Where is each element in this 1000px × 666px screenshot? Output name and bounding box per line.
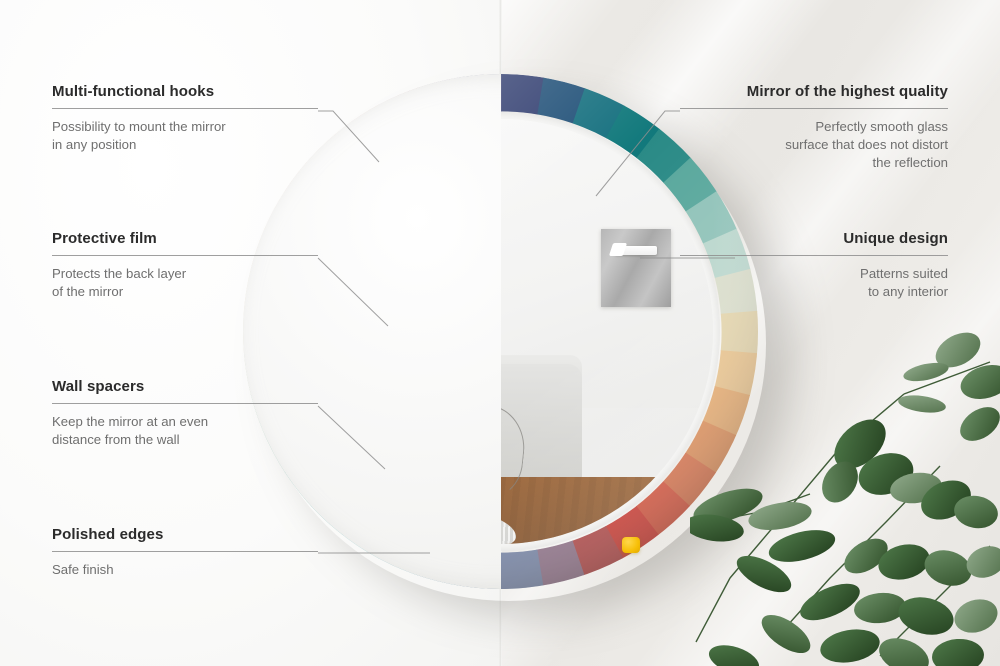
callout-rule [52, 403, 318, 404]
callout-wall-spacers[interactable]: Wall spacers Keep the mirror at an even … [52, 378, 318, 449]
callout-title: Protective film [52, 230, 318, 247]
foliage-decoration [690, 316, 1000, 666]
callout-title: Unique design [680, 230, 948, 247]
callout-title: Polished edges [52, 526, 318, 543]
callout-unique-design[interactable]: Unique design Patterns suited to any int… [680, 230, 948, 301]
callout-desc: Keep the mirror at an even distance from… [52, 413, 318, 449]
hook-slot-icon [615, 246, 657, 255]
callout-desc: Possibility to mount the mirror in any p… [52, 118, 318, 154]
callout-rule [52, 551, 318, 552]
callout-multi-functional-hooks[interactable]: Multi-functional hooks Possibility to mo… [52, 83, 318, 154]
callout-mirror-of-the-highest-quality[interactable]: Mirror of the highest quality Perfectly … [680, 83, 948, 172]
callout-desc: Protects the back layer of the mirror [52, 265, 318, 301]
callout-desc: Safe finish [52, 561, 318, 579]
callout-polished-edges[interactable]: Polished edges Safe finish [52, 526, 318, 579]
callout-title: Mirror of the highest quality [680, 83, 948, 100]
wall-spacer-pad[interactable] [622, 537, 640, 553]
callout-rule [52, 255, 318, 256]
callout-desc: Perfectly smooth glass surface that does… [680, 118, 948, 172]
callout-desc: Patterns suited to any interior [680, 265, 948, 301]
callout-protective-film[interactable]: Protective film Protects the back layer … [52, 230, 318, 301]
callout-title: Wall spacers [52, 378, 318, 395]
callout-title: Multi-functional hooks [52, 83, 318, 100]
callout-rule [680, 255, 948, 256]
callout-rule [680, 108, 948, 109]
infographic-canvas: Multi-functional hooks Possibility to mo… [0, 0, 1000, 666]
hook-plate[interactable] [601, 229, 671, 307]
callout-rule [52, 108, 318, 109]
